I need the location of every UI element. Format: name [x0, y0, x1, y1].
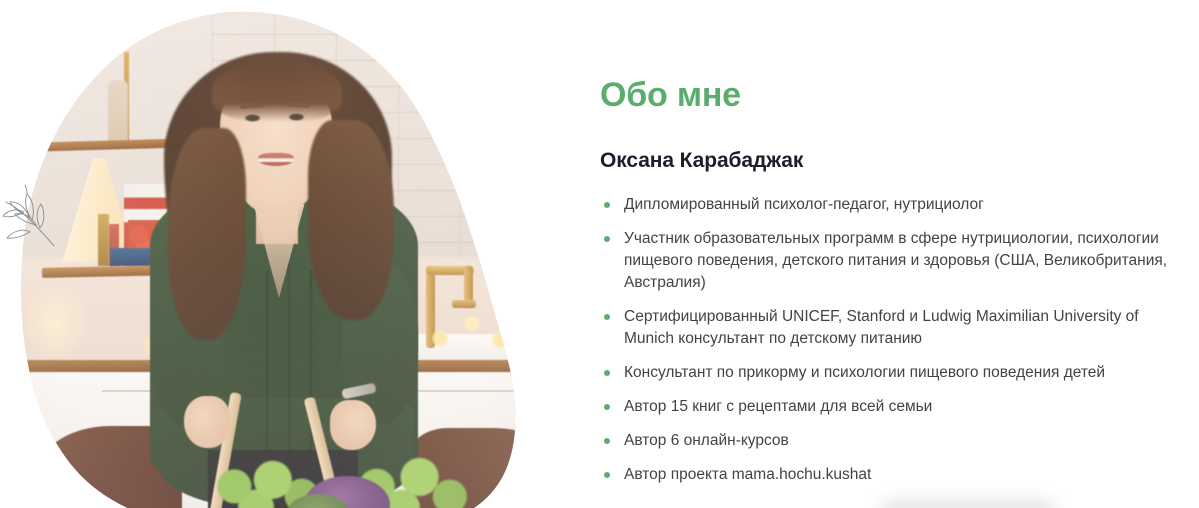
credential-item: Автор 6 онлайн-курсов [600, 430, 1178, 452]
credential-item: Участник образовательных программ в сфер… [600, 228, 1178, 294]
credential-item: Автор проекта mama.hochu.kushat [600, 464, 1178, 486]
person-name: Оксана Карабаджак [600, 147, 803, 175]
olive-branch-icon [2, 180, 56, 250]
portrait-panel [0, 0, 560, 508]
portrait-photo [12, 8, 528, 508]
cta-button-shadow[interactable] [880, 498, 1056, 508]
about-text-column: Обо мне Оксана Карабаджак Дипломированны… [598, 0, 1183, 508]
credential-item: Консультант по прикорму и психологии пищ… [600, 362, 1178, 384]
credential-item: Дипломированный психолог-педагог, нутриц… [600, 194, 1178, 216]
portrait-photo-artwork [12, 8, 528, 508]
credential-item: Автор 15 книг с рецептами для всей семьи [600, 396, 1178, 418]
credentials-list: Дипломированный психолог-педагог, нутриц… [600, 194, 1178, 498]
credential-item: Сертифицированный UNICEF, Stanford и Lud… [600, 306, 1178, 350]
about-me-section: Обо мне Оксана Карабаджак Дипломированны… [0, 0, 1199, 508]
section-heading: Обо мне [600, 74, 741, 116]
